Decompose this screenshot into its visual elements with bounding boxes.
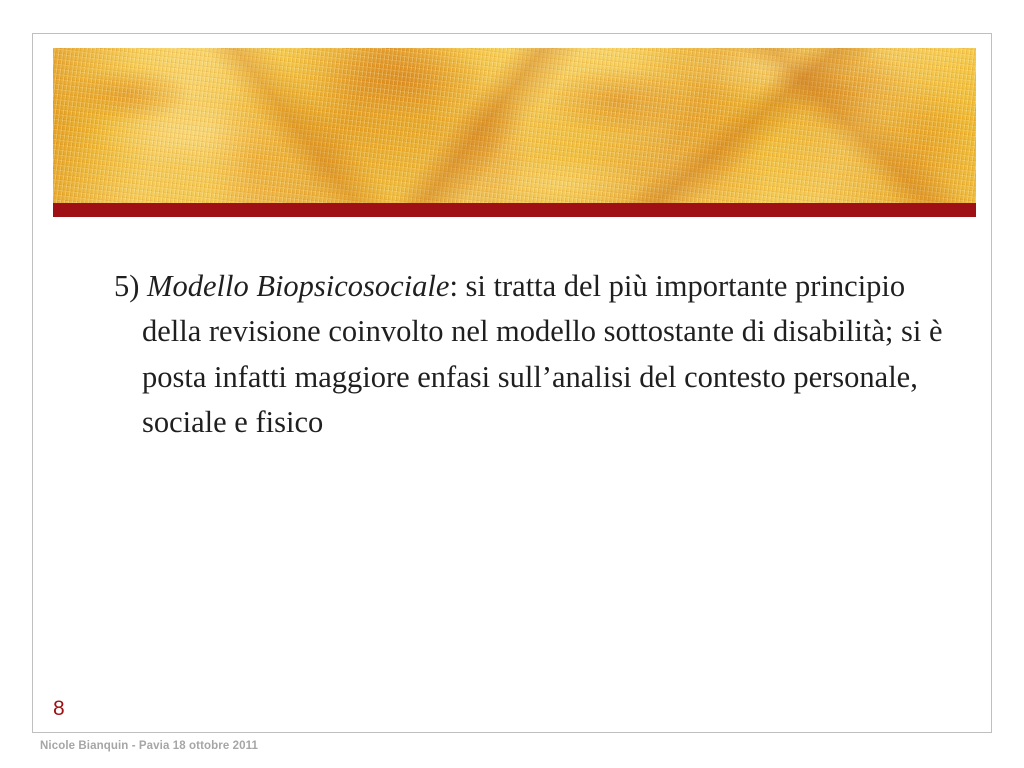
emphasized-term: Modello Biopsicosociale [147,269,449,303]
banner-accent-rule [53,203,976,217]
page-number: 8 [53,698,65,719]
footer-credit: Nicole Bianquin - Pavia 18 ottobre 2011 [40,741,258,753]
slide-body-text: 5) Modello Biopsicosociale: si tratta de… [114,264,944,445]
slide-frame: 5) Modello Biopsicosociale: si tratta de… [32,33,992,733]
list-number: 5) [114,269,139,303]
slide-banner [53,48,976,217]
parchment-texture-image [53,48,976,203]
slide-page: { "slide": { "banner": { "icon": "parchm… [0,0,1024,768]
